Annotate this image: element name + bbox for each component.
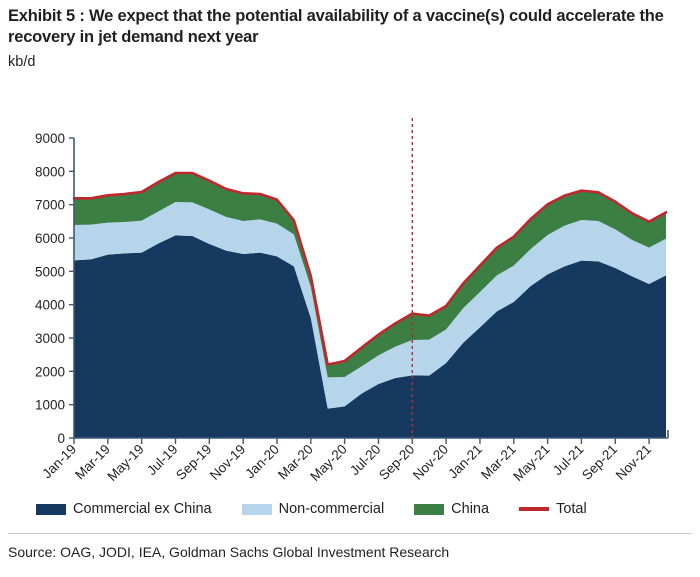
x-axis-tick-label: Sep-20 xyxy=(376,442,417,483)
y-axis-tick-label: 3000 xyxy=(35,331,65,346)
y-axis-tick-label: 9000 xyxy=(35,131,65,146)
y-axis-tick-label: 2000 xyxy=(35,364,65,379)
legend-item[interactable]: Commercial ex China xyxy=(36,501,212,517)
legend-item[interactable]: Non-commercial xyxy=(242,501,385,517)
x-axis-tick-label: May-20 xyxy=(307,442,349,484)
legend-swatch-icon xyxy=(519,507,549,511)
legend-swatch-icon xyxy=(414,504,444,515)
y-axis-tick-label: 4000 xyxy=(35,298,65,313)
chart-area: 0100020003000400050006000700080009000Jan… xyxy=(0,118,700,528)
y-axis-tick-label: 1000 xyxy=(35,398,65,413)
y-axis-tick-label: 6000 xyxy=(35,231,65,246)
x-axis-tick-label: Nov-20 xyxy=(410,442,451,483)
y-axis-tick-label: 5000 xyxy=(35,264,65,279)
x-axis-tick-label: Jan-20 xyxy=(242,442,282,482)
legend-swatch-icon xyxy=(36,504,66,515)
title-block: Exhibit 5 : We expect that the potential… xyxy=(8,6,692,70)
legend-item-label: Total xyxy=(556,501,587,517)
x-axis-tick-label: Jan-21 xyxy=(445,442,485,482)
y-axis-unit-label: kb/d xyxy=(8,54,692,70)
x-axis-tick-label: Nov-19 xyxy=(207,442,248,483)
chart-plot-group: 0100020003000400050006000700080009000Jan… xyxy=(35,118,668,484)
stacked-area-chart: 0100020003000400050006000700080009000Jan… xyxy=(0,118,700,528)
y-axis-tick-label: 8000 xyxy=(35,164,65,179)
x-axis-tick-label: May-19 xyxy=(104,442,146,484)
chart-legend: Commercial ex ChinaNon-commercialChinaTo… xyxy=(0,497,700,521)
y-axis-tick-label: 7000 xyxy=(35,198,65,213)
legend-item-label: Commercial ex China xyxy=(73,501,212,517)
x-axis-tick-label: Sep-21 xyxy=(579,442,620,483)
source-note: Source: OAG, JODI, IEA, Goldman Sachs Gl… xyxy=(8,544,449,560)
y-axis-tick-label: 0 xyxy=(57,431,65,446)
page-title: Exhibit 5 : We expect that the potential… xyxy=(8,6,692,48)
x-axis-tick-label: May-21 xyxy=(510,442,552,484)
legend-item-label: Non-commercial xyxy=(279,501,385,517)
legend-item[interactable]: China xyxy=(414,501,489,517)
legend-item-label: China xyxy=(451,501,489,517)
legend-item[interactable]: Total xyxy=(519,501,587,517)
legend-swatch-icon xyxy=(242,504,272,515)
x-axis-tick-label: Nov-21 xyxy=(613,442,654,483)
exhibit-container: Exhibit 5 : We expect that the potential… xyxy=(0,0,700,577)
source-divider xyxy=(8,533,692,534)
area-series xyxy=(74,235,666,438)
x-axis-tick-label: Sep-19 xyxy=(173,442,214,483)
x-axis-tick-label: Jan-19 xyxy=(39,442,79,482)
